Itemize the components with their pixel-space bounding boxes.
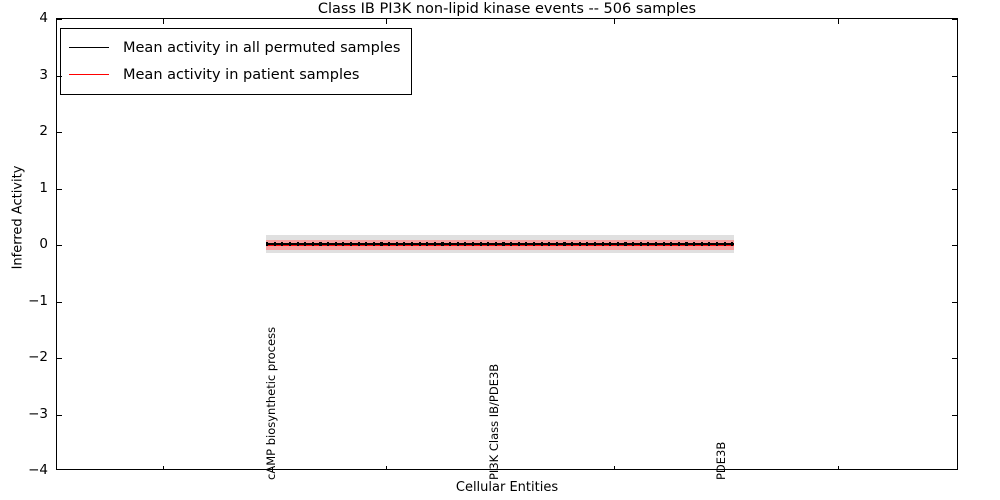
x-tick-mark <box>163 466 164 470</box>
plot-area: Mean activity in all permuted samples Me… <box>56 18 958 470</box>
entity-marker <box>541 242 543 245</box>
y-tick-label: 3 <box>4 67 48 83</box>
entity-marker <box>472 242 474 245</box>
y-tick-mark <box>57 302 62 303</box>
y-tick-mark <box>57 358 62 359</box>
entity-marker <box>685 242 687 245</box>
legend-line-icon-permuted <box>69 47 109 48</box>
entity-marker <box>602 242 604 245</box>
entity-marker <box>274 242 276 245</box>
legend-entry-permuted: Mean activity in all permuted samples <box>69 34 400 61</box>
y-tick-mark <box>57 189 62 190</box>
entity-marker <box>731 242 733 245</box>
entity-marker <box>533 242 535 245</box>
entity-marker-row <box>266 242 734 245</box>
entity-marker <box>518 242 520 245</box>
y-axis-label: Inferred Activity <box>11 118 26 318</box>
entity-marker <box>502 242 504 245</box>
entity-marker <box>579 242 581 245</box>
entity-marker <box>617 242 619 245</box>
y-tick-label: 2 <box>4 123 48 139</box>
x-axis-label: Cellular Entities <box>56 480 958 495</box>
entity-marker <box>449 242 451 245</box>
entity-marker <box>594 242 596 245</box>
entity-marker <box>388 242 390 245</box>
x-tick-label: cAMP biosynthetic process <box>264 327 278 480</box>
entity-marker <box>319 242 321 245</box>
y-tick-label: 1 <box>4 180 48 196</box>
entity-marker <box>426 242 428 245</box>
entity-marker <box>350 242 352 245</box>
entity-marker <box>663 242 665 245</box>
legend-label-patient: Mean activity in patient samples <box>123 67 359 83</box>
x-tick-mark <box>838 19 839 24</box>
entity-marker <box>548 242 550 245</box>
x-tick-label: PDE3B <box>714 442 728 480</box>
entity-marker <box>480 242 482 245</box>
entity-marker <box>464 242 466 245</box>
y-tick-mark <box>952 189 957 190</box>
entity-marker <box>495 242 497 245</box>
entity-marker <box>358 242 360 245</box>
entity-marker <box>327 242 329 245</box>
entity-marker <box>403 242 405 245</box>
entity-marker <box>487 242 489 245</box>
entity-marker <box>647 242 649 245</box>
x-tick-label: PI3K Class IB/PDE3B <box>487 364 501 480</box>
y-tick-mark <box>57 19 62 20</box>
entity-marker <box>670 242 672 245</box>
x-tick-mark <box>386 19 387 24</box>
legend: Mean activity in all permuted samples Me… <box>60 28 412 95</box>
y-tick-label: −4 <box>4 462 48 478</box>
entity-marker <box>640 242 642 245</box>
y-tick-mark <box>952 245 957 246</box>
entity-marker <box>655 242 657 245</box>
entity-marker <box>281 242 283 245</box>
legend-entry-patient: Mean activity in patient samples <box>69 61 400 88</box>
entity-marker <box>609 242 611 245</box>
entity-marker <box>693 242 695 245</box>
entity-marker <box>373 242 375 245</box>
y-tick-label: −1 <box>4 293 48 309</box>
legend-line-icon-patient <box>69 74 109 75</box>
entity-marker <box>571 242 573 245</box>
y-tick-mark <box>57 132 62 133</box>
x-tick-mark <box>163 19 164 24</box>
y-tick-mark <box>952 132 957 133</box>
entity-marker <box>396 242 398 245</box>
entity-marker <box>525 242 527 245</box>
entity-marker <box>701 242 703 245</box>
entity-marker <box>586 242 588 245</box>
y-tick-mark <box>57 76 62 77</box>
x-tick-mark <box>386 466 387 470</box>
y-tick-mark <box>952 302 957 303</box>
y-tick-label: 0 <box>4 236 48 252</box>
entity-marker <box>365 242 367 245</box>
entity-marker <box>716 242 718 245</box>
entity-marker <box>434 242 436 245</box>
page-title: Class IB PI3K non-lipid kinase events --… <box>56 0 958 18</box>
y-tick-mark <box>952 358 957 359</box>
entity-marker <box>342 242 344 245</box>
entity-marker <box>297 242 299 245</box>
entity-marker <box>563 242 565 245</box>
x-tick-mark <box>614 19 615 24</box>
legend-label-permuted: Mean activity in all permuted samples <box>123 40 400 56</box>
entity-marker <box>441 242 443 245</box>
entity-marker <box>678 242 680 245</box>
entity-marker <box>335 242 337 245</box>
matplotlib-figure: Class IB PI3K non-lipid kinase events --… <box>0 0 1000 500</box>
entity-marker <box>632 242 634 245</box>
entity-marker <box>457 242 459 245</box>
y-tick-label: 4 <box>4 10 48 26</box>
entity-marker <box>411 242 413 245</box>
entity-marker <box>380 242 382 245</box>
entity-marker <box>510 242 512 245</box>
x-tick-mark <box>838 466 839 470</box>
y-tick-label: −2 <box>4 349 48 365</box>
y-tick-label: −3 <box>4 406 48 422</box>
entity-marker <box>724 242 726 245</box>
entity-marker <box>624 242 626 245</box>
entity-marker <box>556 242 558 245</box>
entity-marker <box>312 242 314 245</box>
y-tick-mark <box>57 245 62 246</box>
y-tick-mark <box>952 19 957 20</box>
entity-marker <box>266 242 268 245</box>
entity-marker <box>419 242 421 245</box>
y-tick-mark <box>57 415 62 416</box>
x-tick-mark <box>614 466 615 470</box>
y-tick-mark <box>952 76 957 77</box>
entity-marker <box>304 242 306 245</box>
y-tick-mark <box>952 415 957 416</box>
entity-marker <box>289 242 291 245</box>
entity-marker <box>708 242 710 245</box>
